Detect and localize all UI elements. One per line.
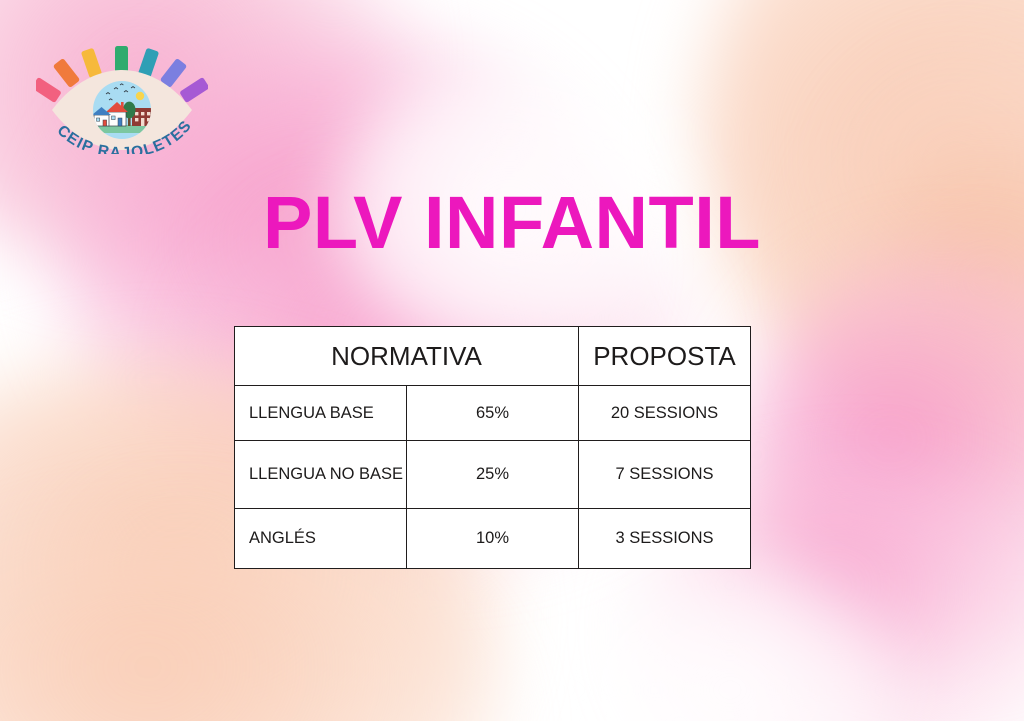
white-highlight-bottom: [560, 560, 900, 721]
plv-table: NORMATIVA PROPOSTA LLENGUA BASE 65% 20 S…: [234, 326, 751, 569]
row-percent-llengua-no-base: 25%: [407, 441, 579, 509]
row-percent-llengua-base: 65%: [407, 386, 579, 441]
row-label-llengua-base: LLENGUA BASE: [235, 386, 407, 441]
header-normativa: NORMATIVA: [235, 327, 579, 386]
peach-wash-right: [820, 40, 1024, 520]
table-body: LLENGUA BASE 65% 20 SESSIONS LLENGUA NO …: [235, 386, 751, 569]
row-label-llengua-no-base: LLENGUA NO BASE: [235, 441, 407, 509]
table-row: LLENGUA NO BASE 25% 7 SESSIONS: [235, 441, 751, 509]
row-sessions-llengua-base: 20 SESSIONS: [579, 386, 751, 441]
table-row: ANGLÉS 10% 3 SESSIONS: [235, 509, 751, 569]
slide-canvas: CEIP RAJOLETES PLV INFANTIL NORMATIVA PR…: [0, 0, 1024, 721]
plv-table-container: NORMATIVA PROPOSTA LLENGUA BASE 65% 20 S…: [234, 326, 751, 569]
pink-wash-right: [740, 250, 1024, 670]
header-proposta: PROPOSTA: [579, 327, 751, 386]
school-logo-svg: CEIP RAJOLETES: [36, 32, 208, 154]
table-row: LLENGUA BASE 65% 20 SESSIONS: [235, 386, 751, 441]
page-title: PLV INFANTIL: [0, 186, 1024, 260]
table-head: NORMATIVA PROPOSTA: [235, 327, 751, 386]
row-label-angles: ANGLÉS: [235, 509, 407, 569]
school-logo: CEIP RAJOLETES: [36, 32, 208, 154]
row-percent-angles: 10%: [407, 509, 579, 569]
table-header-row: NORMATIVA PROPOSTA: [235, 327, 751, 386]
row-sessions-llengua-no-base: 7 SESSIONS: [579, 441, 751, 509]
row-sessions-angles: 3 SESSIONS: [579, 509, 751, 569]
